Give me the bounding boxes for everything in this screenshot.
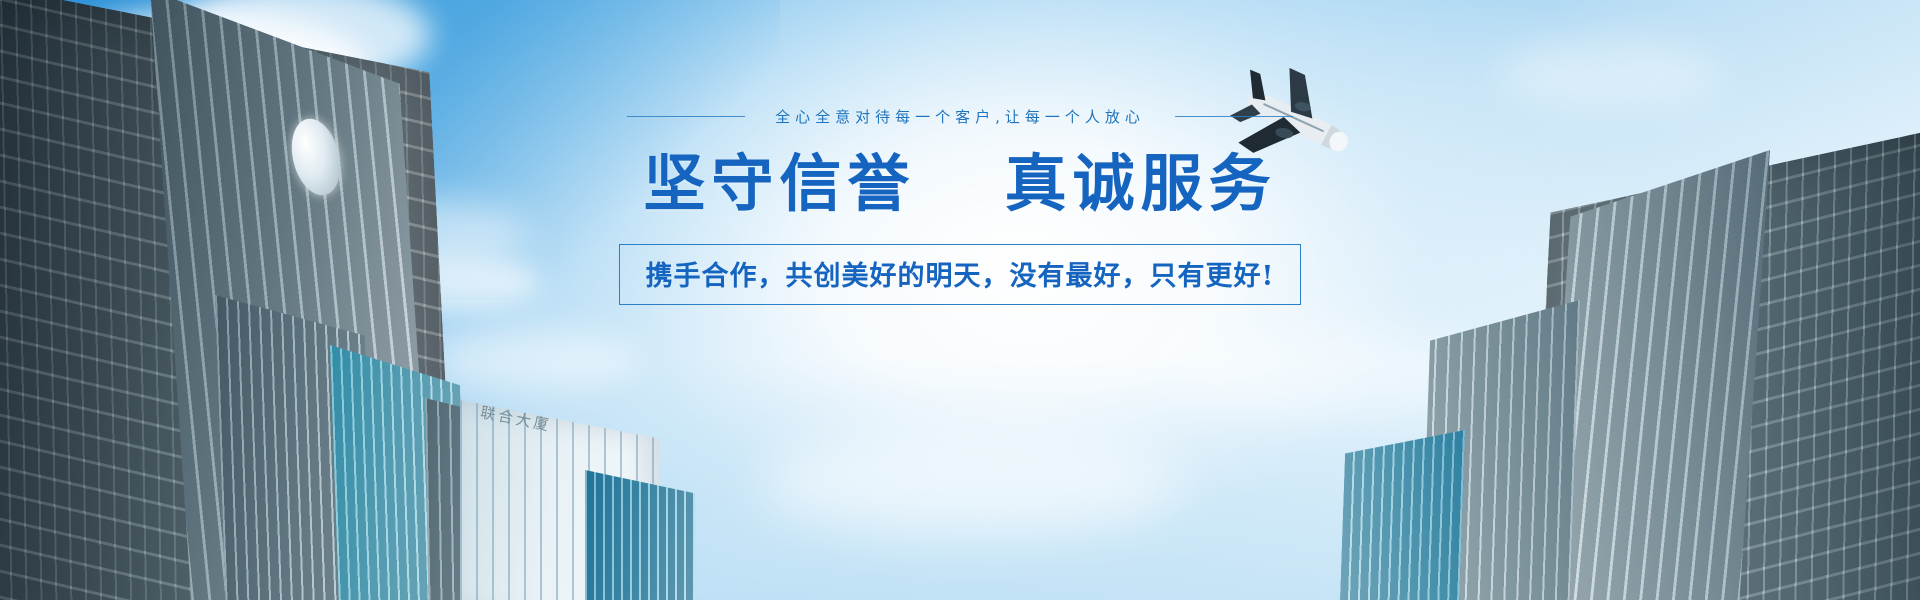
tagline-row: 全心全意对待每一个客户,让每一个人放心 bbox=[627, 106, 1293, 127]
headline-part-left: 坚守信誉 bbox=[643, 147, 915, 220]
skyscraper-right-teal bbox=[1338, 430, 1465, 600]
cloud-shape bbox=[760, 430, 1180, 540]
cloud-shape bbox=[1500, 40, 1720, 110]
tagline-rule-left bbox=[627, 116, 745, 117]
hero-banner: 联合大厦 全心全意 bbox=[0, 0, 1920, 600]
tagline-rule-right bbox=[1175, 116, 1293, 117]
tagline-text: 全心全意对待每一个客户,让每一个人放心 bbox=[775, 106, 1145, 127]
page-title: 坚守信誉 真诚服务 bbox=[643, 149, 1276, 218]
subtitle-box: 携手合作，共创美好的明天，没有最好，只有更好! bbox=[619, 244, 1302, 305]
subtitle-text: 携手合作，共创美好的明天，没有最好，只有更好! bbox=[646, 261, 1275, 292]
skyscraper-center-blue bbox=[585, 470, 695, 600]
cloud-shape bbox=[430, 330, 640, 390]
headline-part-right: 真诚服务 bbox=[1005, 147, 1277, 220]
